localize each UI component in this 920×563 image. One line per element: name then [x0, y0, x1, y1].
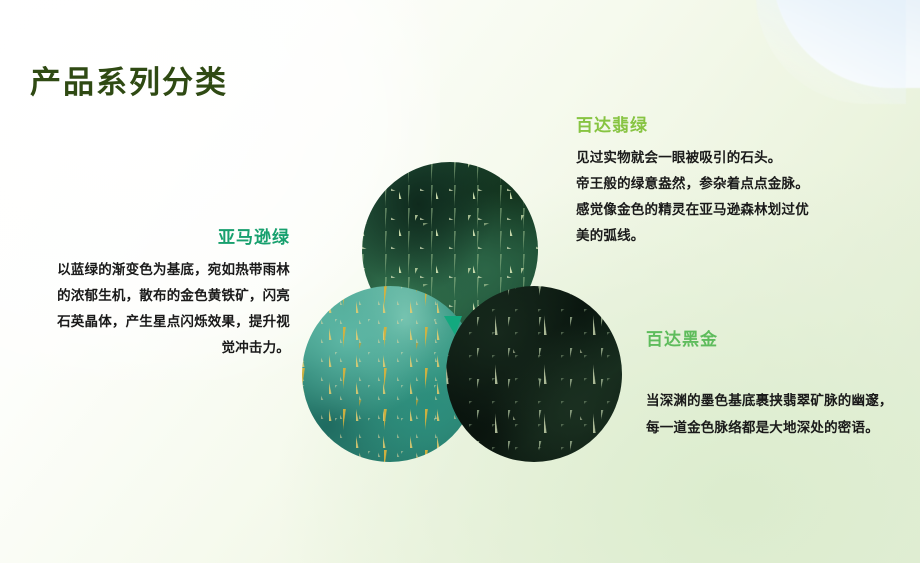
heading-amazon-green: 亚马逊绿	[22, 228, 290, 248]
circle-patek-black-gold[interactable]	[446, 286, 622, 462]
text-block-patek-black-gold: 百达黑金 当深渊的墨色基底裹挟翡翠矿脉的幽邃， 每一道金色脉络都是大地深处的密语…	[646, 330, 914, 441]
body-line: 美的弧线。	[576, 228, 645, 243]
slide-canvas: 产品系列分类 亚马逊绿 以蓝绿的渐变色为基底，宛如热带雨林 的浓郁生机，散布的金…	[0, 0, 920, 563]
heading-patek-black-gold: 百达黑金	[646, 330, 914, 350]
body-line: 见过实物就会一眼被吸引的石头。	[576, 150, 782, 165]
body-line: 帝王般的绿意盎然，参杂着点点金脉。	[576, 176, 809, 191]
body-line: 觉冲击力。	[222, 340, 291, 355]
body-line: 每一道金色脉络都是大地深处的密语。	[646, 420, 879, 435]
body-line: 的浓郁生机，散布的金色黄铁矿，闪亮	[57, 288, 290, 303]
text-block-patek-emerald: 百达翡绿 见过实物就会一眼被吸引的石头。 帝王般的绿意盎然，参杂着点点金脉。 感…	[576, 116, 894, 249]
body-line: 当深渊的墨色基底裹挟翡翠矿脉的幽邃，	[646, 393, 893, 408]
triangle-marker-icon	[444, 316, 462, 335]
body-line: 石英晶体，产生星点闪烁效果，提升视	[57, 314, 290, 329]
text-block-amazon-green: 亚马逊绿 以蓝绿的渐变色为基底，宛如热带雨林 的浓郁生机，散布的金色黄铁矿，闪亮…	[22, 228, 290, 361]
body-line: 以蓝绿的渐变色为基底，宛如热带雨林	[57, 262, 290, 277]
heading-patek-emerald: 百达翡绿	[576, 116, 894, 136]
page-title: 产品系列分类	[30, 57, 228, 102]
body-line: 感觉像金色的精灵在亚马逊森林划过优	[576, 202, 809, 217]
corner-decoration-icon	[772, 0, 920, 88]
body-amazon-green: 以蓝绿的渐变色为基底，宛如热带雨林 的浓郁生机，散布的金色黄铁矿，闪亮 石英晶体…	[22, 257, 290, 361]
body-patek-black-gold: 当深渊的墨色基底裹挟翡翠矿脉的幽邃， 每一道金色脉络都是大地深处的密语。	[646, 388, 914, 441]
body-patek-emerald: 见过实物就会一眼被吸引的石头。 帝王般的绿意盎然，参杂着点点金脉。 感觉像金色的…	[576, 145, 894, 249]
